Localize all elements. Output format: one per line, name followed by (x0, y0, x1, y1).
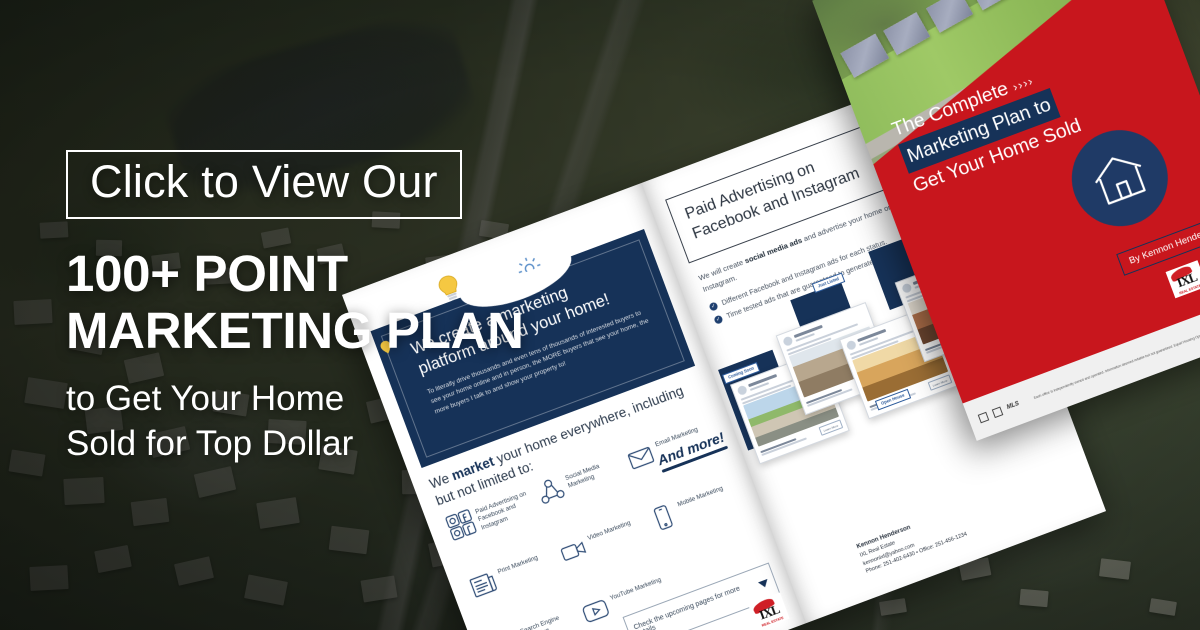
equal-housing-icon (978, 411, 990, 423)
title-line-1: 100+ POINT (66, 245, 626, 302)
page-title: 100+ POINT MARKETING PLAN (66, 245, 626, 359)
chevrons-icon: › › › › (1011, 75, 1034, 95)
avatar (782, 335, 794, 347)
subtitle-line-2: Sold for Top Dollar (66, 422, 626, 467)
headline-block: Click to View Our 100+ POINT MARKETING P… (66, 150, 626, 467)
page-subtitle: to Get Your Home Sold for Top Dollar (66, 377, 626, 467)
email-icon (624, 441, 657, 474)
title-line-2: MARKETING PLAN (66, 302, 626, 359)
avatar (736, 385, 748, 397)
check-icon: ✓ (713, 315, 723, 325)
click-to-view-button[interactable]: Click to View Our (66, 150, 462, 219)
body-bold: social media ads (743, 236, 803, 266)
chevron-down-icon (758, 578, 770, 588)
promo-banner: Click to View Our 100+ POINT MARKETING P… (0, 0, 1200, 630)
facebook-instagram-icon (444, 508, 477, 541)
realtor-icon (992, 406, 1004, 418)
check-icon: ✓ (708, 301, 718, 311)
subtitle-line-1: to Get Your Home (66, 377, 626, 422)
avatar (846, 339, 858, 351)
house-icon (1085, 146, 1154, 211)
mls-icon: MLS (1006, 401, 1020, 411)
avatar (901, 282, 913, 294)
social-network-icon (534, 474, 567, 507)
agent-contact-block: Kennon Henderson IXL Real Estate kennoni… (855, 505, 968, 577)
click-cta-label: Click to View Our (90, 159, 438, 206)
